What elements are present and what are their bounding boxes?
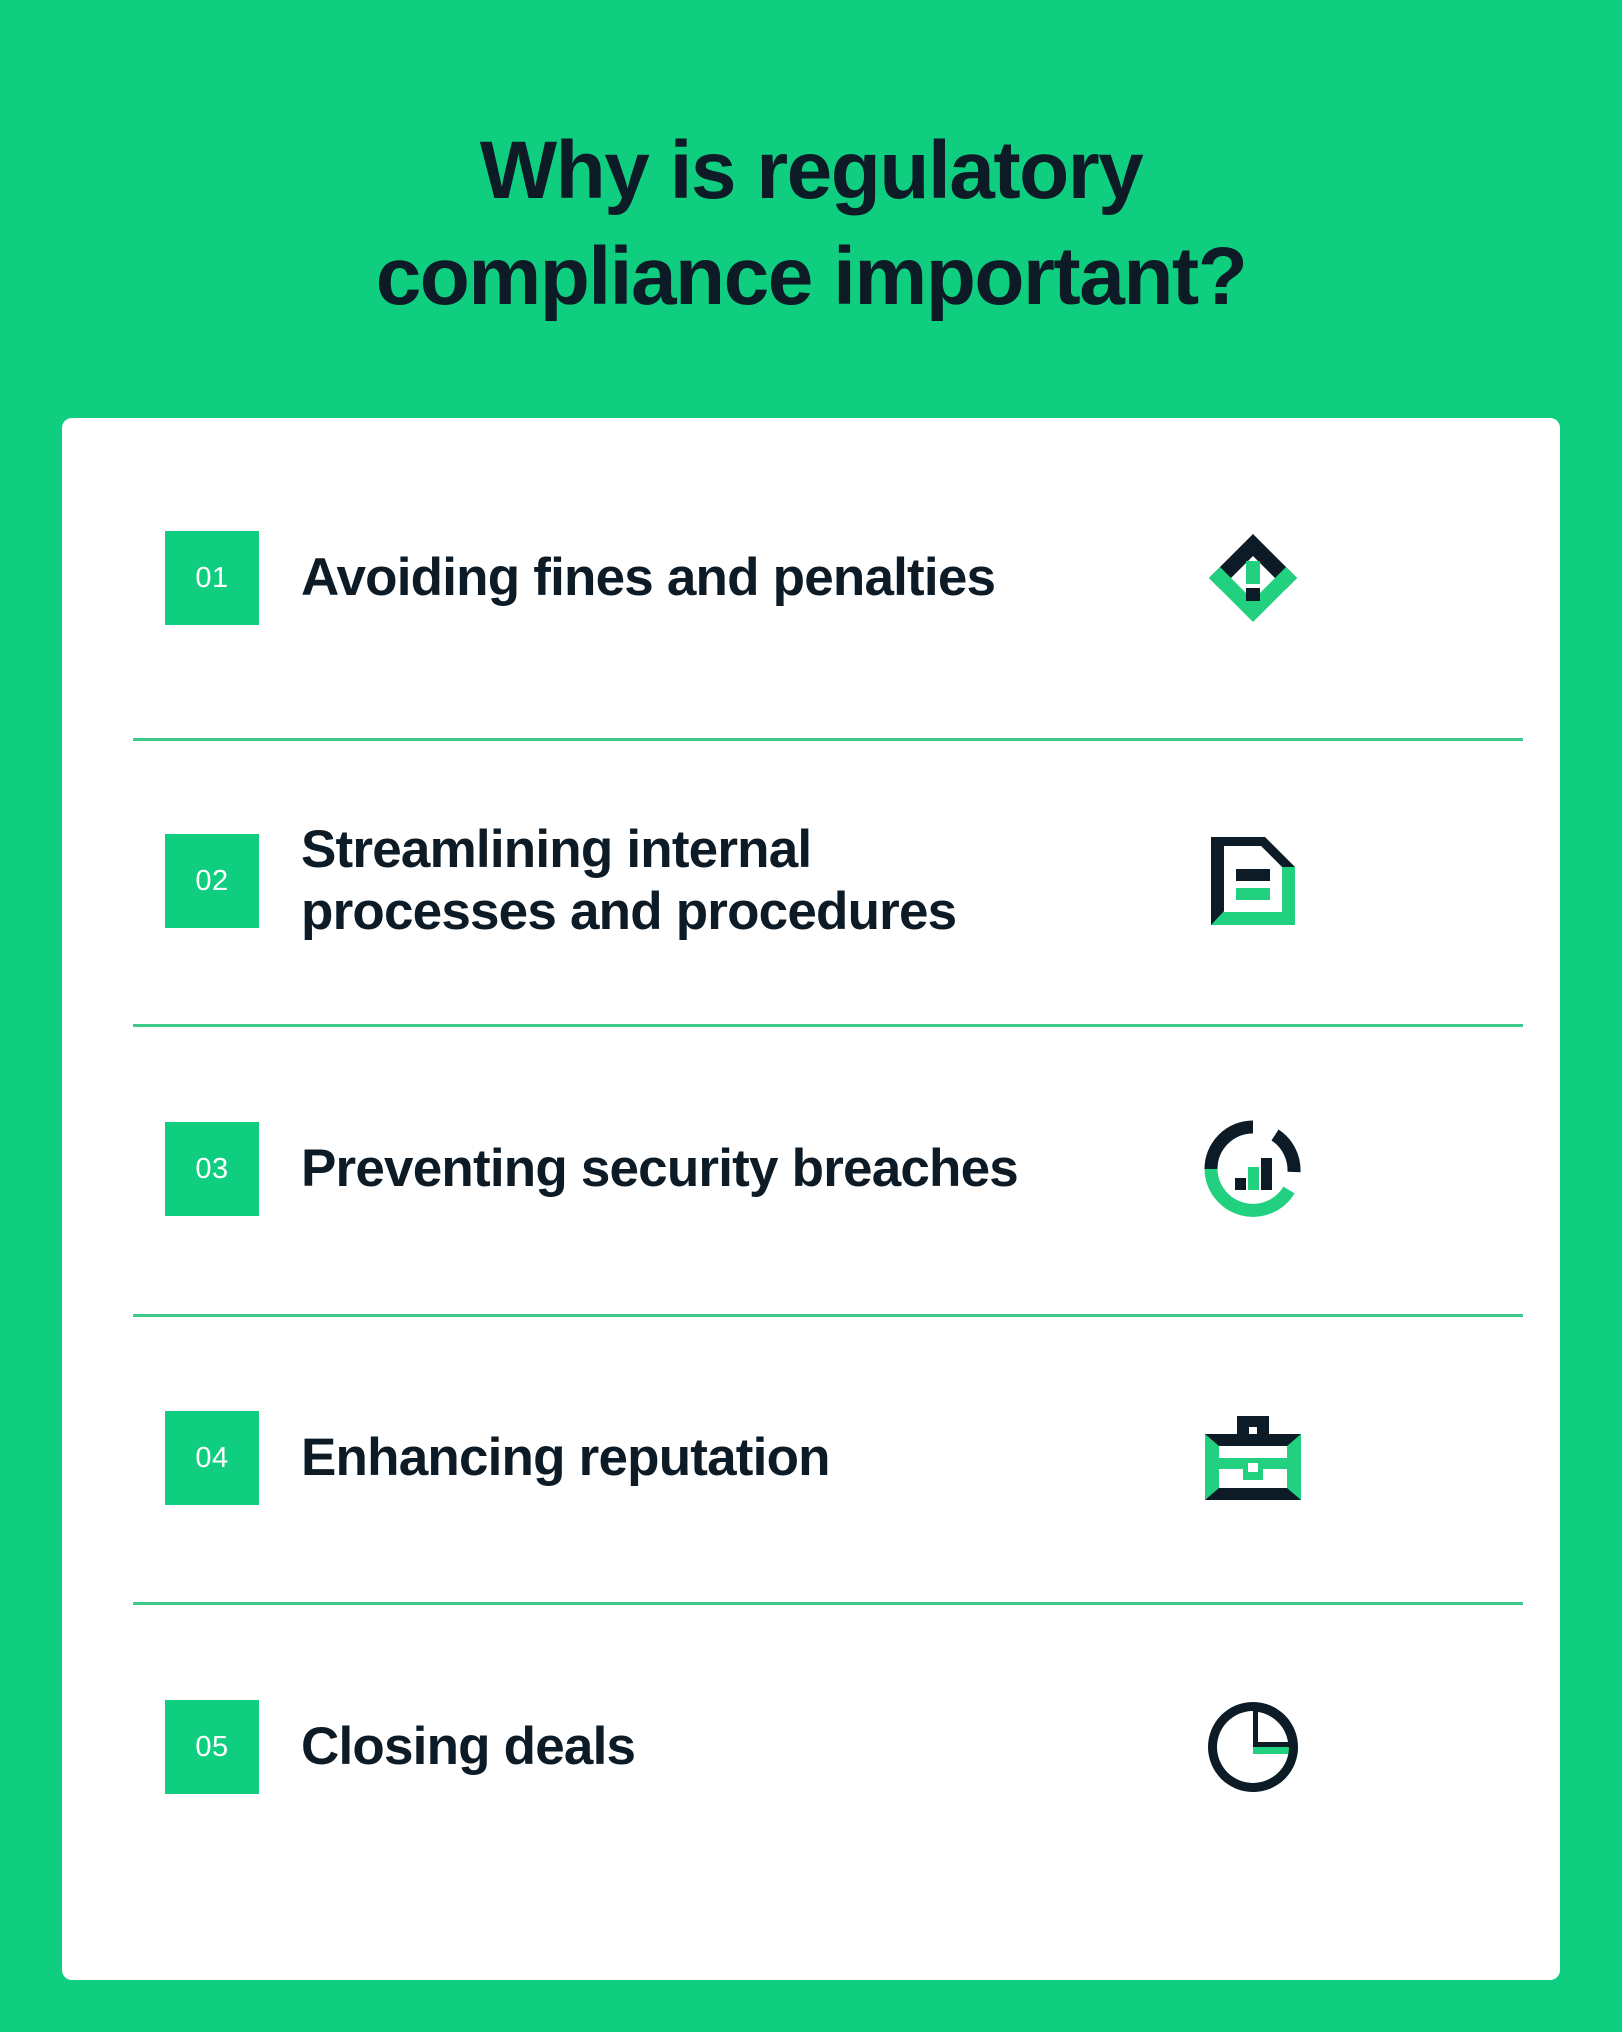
list-item[interactable]: 05 Closing deals — [62, 1602, 1560, 1892]
list-item-label: Avoiding fines and penalties — [301, 547, 1201, 609]
title-line-2: compliance important? — [0, 224, 1622, 330]
list-item-label: Closing deals — [301, 1716, 1201, 1778]
item-number: 04 — [195, 1444, 228, 1473]
reasons-list: 01 Avoiding fines and penalties — [62, 418, 1560, 1892]
list-item[interactable]: 03 Preventing security breaches — [62, 1024, 1560, 1314]
list-item-label: Streamlining internal processes and proc… — [301, 819, 1201, 943]
item-number: 03 — [195, 1155, 228, 1184]
alert-diamond-icon — [1201, 526, 1305, 630]
list-card: 01 Avoiding fines and penalties — [62, 418, 1560, 1980]
list-item[interactable]: 02 Streamlining internal processes and p… — [62, 738, 1560, 1024]
item-number-badge: 03 — [165, 1122, 259, 1216]
gauge-chart-icon — [1201, 1117, 1305, 1221]
item-number-badge: 01 — [165, 531, 259, 625]
title-line-1: Why is regulatory — [0, 118, 1622, 224]
item-number: 01 — [195, 564, 228, 593]
list-item[interactable]: 01 Avoiding fines and penalties — [62, 418, 1560, 738]
list-item-label-line-1: Streamlining internal — [301, 820, 811, 879]
document-icon — [1201, 829, 1305, 933]
item-number-badge: 02 — [165, 834, 259, 928]
item-number: 05 — [195, 1733, 228, 1762]
list-item-label: Enhancing reputation — [301, 1427, 1201, 1489]
list-item-label: Preventing security breaches — [301, 1138, 1201, 1200]
list-item[interactable]: 04 Enhancing reputation — [62, 1314, 1560, 1602]
infographic-page: Why is regulatory compliance important? … — [0, 0, 1622, 2032]
pie-chart-icon — [1201, 1695, 1305, 1799]
page-title: Why is regulatory compliance important? — [0, 118, 1622, 330]
item-number: 02 — [195, 867, 228, 896]
list-item-label-line-2: processes and procedures — [301, 882, 956, 941]
item-number-badge: 05 — [165, 1700, 259, 1794]
briefcase-icon — [1201, 1406, 1305, 1510]
item-number-badge: 04 — [165, 1411, 259, 1505]
